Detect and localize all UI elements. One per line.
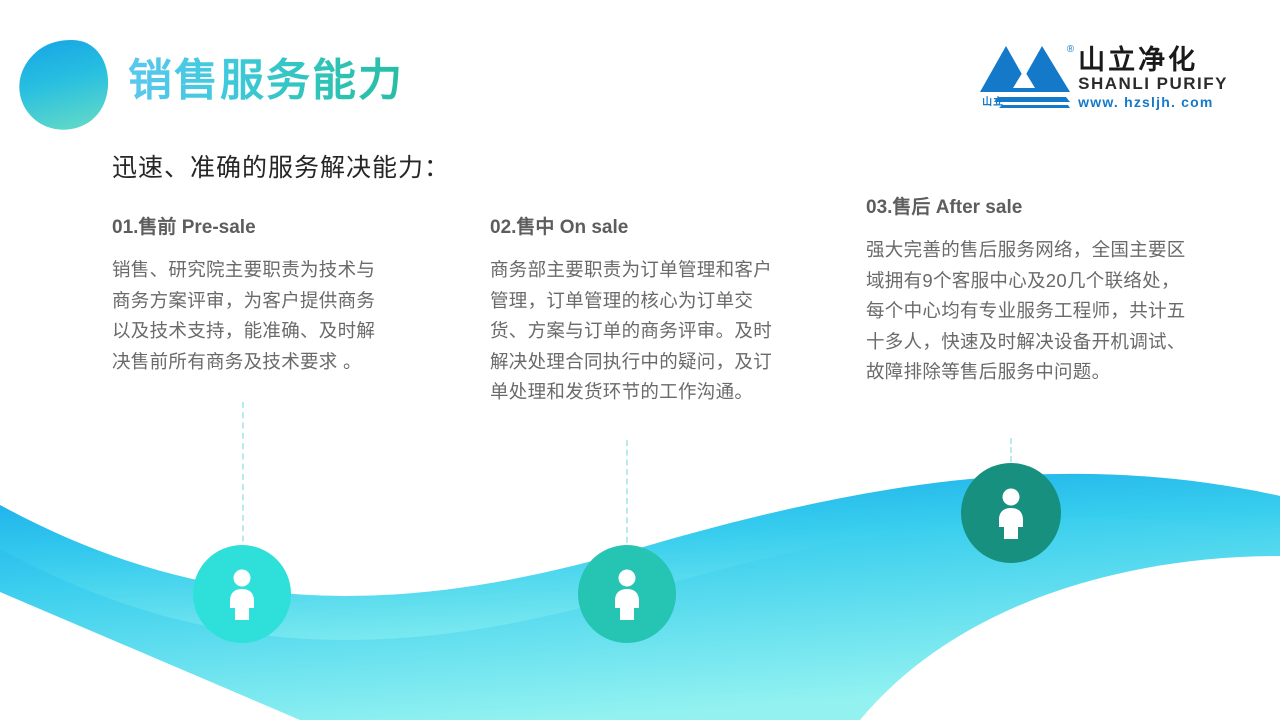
person-icon <box>225 568 259 620</box>
column-heading: 02.售中 On sale <box>490 212 772 239</box>
column-on-sale: 02.售中 On sale 商务部主要职责为订单管理和客户管理，订单管理的核心为… <box>490 212 772 408</box>
column-body-text: 商务部主要职责为订单管理和客户管理，订单管理的核心为订单交货、方案与订单的商务评… <box>490 255 772 408</box>
connector-line-1 <box>242 402 244 562</box>
connector-line-2 <box>626 440 628 562</box>
badge-on-sale[interactable] <box>578 545 676 643</box>
section-subtitle: 迅速、准确的服务解决能力： <box>112 148 450 184</box>
column-body-text: 强大完善的售后服务网络，全国主要区域拥有9个客服中心及20几个联络处，每个中心均… <box>866 235 1186 388</box>
logo-website: www. hzsljh. com <box>1078 95 1228 110</box>
badge-pre-sale[interactable] <box>193 545 291 643</box>
logo-text-block: 山立净化 SHANLI PURIFY www. hzsljh. com <box>1078 44 1228 110</box>
registered-trademark-icon: ® <box>1067 44 1074 55</box>
logo-name-cn: 山立净化 <box>1078 46 1228 74</box>
badge-after-sale[interactable] <box>961 463 1061 563</box>
column-body-text: 销售、研究院主要职责为技术与商务方案评审，为客户提供商务以及技术支持，能准确、及… <box>112 255 384 377</box>
logo-mountain-icon: ® 山立 <box>980 44 1072 110</box>
column-after-sale: 03.售后 After sale 强大完善的售后服务网络，全国主要区域拥有9个客… <box>866 192 1186 388</box>
column-pre-sale: 01.售前 Pre-sale 销售、研究院主要职责为技术与商务方案评审，为客户提… <box>112 212 384 377</box>
decorative-blob <box>14 36 114 134</box>
column-heading: 01.售前 Pre-sale <box>112 212 384 239</box>
person-icon <box>994 487 1028 539</box>
company-logo: ® 山立 山立净化 SHANLI PURIFY www. hzsljh. com <box>980 44 1228 110</box>
page-title: 销售服务能力 <box>128 56 404 107</box>
logo-name-en: SHANLI PURIFY <box>1078 75 1228 94</box>
slide-canvas: 销售服务能力 ® 山立 山立净化 SHANLI PURIFY www. hzsl… <box>0 0 1280 720</box>
column-heading: 03.售后 After sale <box>866 192 1186 219</box>
person-icon <box>610 568 644 620</box>
logo-mark-label: 山立 <box>982 93 1004 108</box>
